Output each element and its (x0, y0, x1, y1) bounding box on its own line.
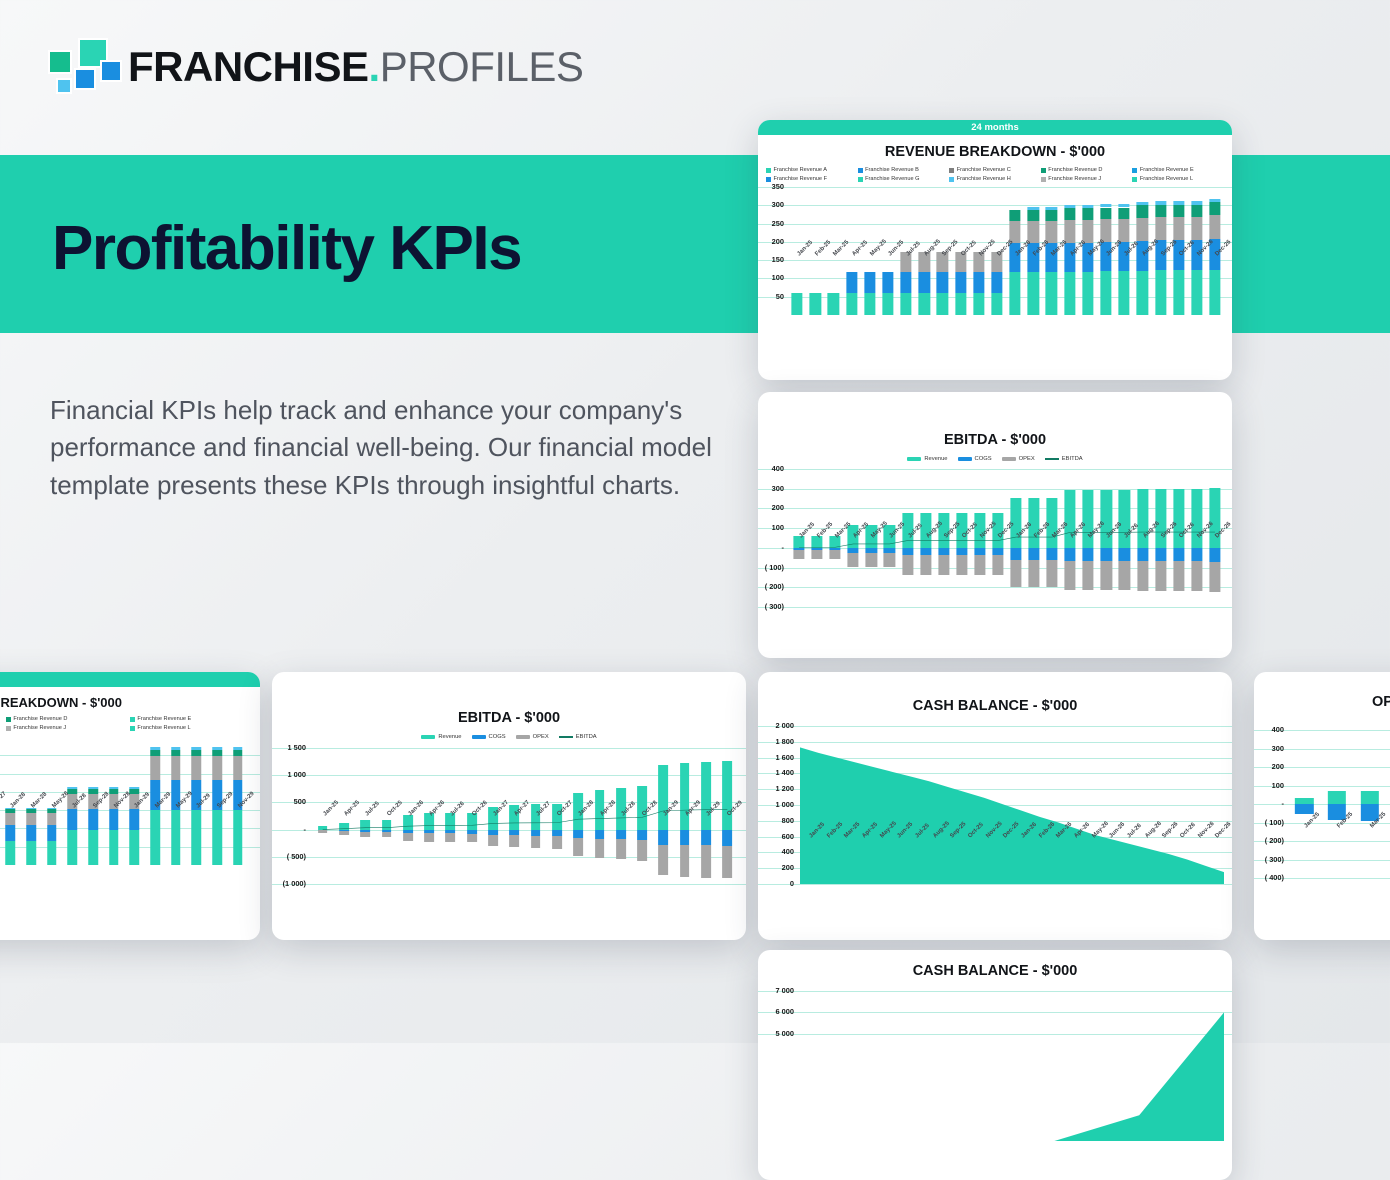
bar-segment (130, 787, 140, 789)
legend-item: Franchise Revenue D (6, 716, 130, 722)
legend-item: Franchise Revenue J (1041, 176, 1133, 182)
bar-segment (88, 830, 98, 865)
x-axis-tick: Mar-25 (1354, 823, 1387, 849)
y-axis-label: ( 200) (1256, 836, 1284, 845)
x-axis-tick: Jul-25 (897, 251, 915, 279)
x-axis-tick: Apr-25 (853, 833, 871, 859)
x-axis-labels: Jan-25Feb-25Mar-25Apr-25May-25Jun-25Jul-… (788, 251, 1224, 279)
legend-label: OPEX (533, 734, 549, 740)
x-axis-tick: Feb-26 (1030, 833, 1048, 859)
x-axis-tick: Nov-29 (227, 803, 248, 829)
bar-segment (1028, 210, 1039, 221)
legend-label: Franchise Revenue J (1048, 176, 1101, 182)
bar-segment (1173, 217, 1184, 240)
bar-column (1354, 730, 1387, 878)
y-axis-label: 150 (760, 255, 784, 264)
bar-segment (1119, 219, 1130, 242)
legend-label: Franchise Revenue D (13, 716, 67, 722)
legend-item: EBITDA (1045, 456, 1083, 462)
x-axis-tick: Nov-25 (971, 533, 989, 561)
bar-segment (846, 293, 857, 315)
bar-segment (1137, 561, 1148, 591)
y-axis-label: - (272, 825, 306, 834)
bar-segment (900, 293, 911, 315)
x-axis-tick: Jan-28 (0, 803, 21, 829)
bar-segment (1209, 215, 1220, 239)
x-axis-tick: Feb-25 (806, 251, 824, 279)
area-series (800, 726, 1224, 884)
legend-label: Franchise Revenue D (1048, 167, 1102, 173)
x-axis-tick: Jul-28 (62, 803, 83, 829)
legend-label: Franchise Revenue J (13, 725, 66, 731)
x-axis-tick: Jul-29 (186, 803, 207, 829)
chart-card-revenue-24-months[interactable]: 24 months REVENUE BREAKDOWN - $'000 Fran… (758, 120, 1232, 380)
legend-swatch (858, 177, 863, 182)
x-axis-tick: Jun-26 (1097, 533, 1115, 561)
y-axis-label: ( 200) (758, 582, 784, 591)
x-axis-tick: May-26 (1083, 833, 1101, 859)
chart-card-ebitda-5-years[interactable]: EBITDA - $'000 RevenueCOGSOPEXEBITDA 1 5… (272, 672, 746, 940)
bar-segment (1082, 205, 1093, 208)
x-axis-tick: Jul-25 (898, 533, 916, 561)
legend-item: COGS (472, 734, 506, 740)
x-axis-tick: Feb-26 (1025, 533, 1043, 561)
chart-title-ebitda-5y: EBITDA - $'000 (272, 710, 746, 726)
x-axis-tick: Jan-25 (1288, 823, 1321, 849)
bar-segment (1010, 210, 1021, 221)
y-axis-label: 1 000 (272, 770, 306, 779)
chart-plot-opex: 400300200100-( 100)( 200)( 300)( 400) (1254, 730, 1390, 878)
bar-segment (955, 293, 966, 315)
x-axis-tick: Apr-29 (674, 811, 695, 837)
x-axis-tick: Sep-26 (1151, 251, 1169, 279)
x-axis-labels: Jan-27Mar-27May-27Jul-27Sep-27Nov-27Jan-… (0, 803, 248, 829)
chart-plot-cash-balance-24: 2 0001 8001 6001 4001 2001 0008006004002… (758, 726, 1232, 884)
legend-swatch (949, 177, 954, 182)
x-axis-tick: Jun-26 (1097, 251, 1115, 279)
legend-item: Franchise Revenue C (949, 167, 1041, 173)
x-axis-tick: Jun-25 (888, 833, 906, 859)
bar-segment (192, 750, 202, 756)
legend-swatch (472, 735, 486, 739)
y-axis-label: 200 (758, 503, 784, 512)
bar-segment (1137, 205, 1148, 217)
legend-item: Franchise Revenue J (6, 725, 130, 731)
x-axis-tick: Mar-26 (1047, 833, 1065, 859)
y-axis-label: 100 (760, 273, 784, 282)
y-axis-label: 400 (758, 464, 784, 473)
x-axis-tick: May-29 (165, 803, 186, 829)
chart-card-opex-partial[interactable]: OPE 400300200100-( 100)( 200)( 300)( 400… (1254, 672, 1390, 940)
legend-swatch (559, 736, 573, 738)
y-axis-label: - (758, 543, 784, 552)
chart-card-cash-balance-5-years[interactable]: CASH BALANCE - $'000 7 0006 0005 000 (758, 950, 1232, 1180)
x-axis-tick: May-26 (1079, 533, 1097, 561)
y-axis-label: 5 000 (758, 1029, 794, 1038)
bar-segment (212, 756, 222, 780)
legend-item: Franchise Revenue E (1132, 167, 1224, 173)
x-axis-tick: May-25 (861, 251, 879, 279)
bar-segment (68, 830, 78, 865)
legend-item: EBITDA (559, 734, 597, 740)
bar-segment (1191, 205, 1202, 217)
bar-segment (130, 830, 140, 865)
x-axis-tick: Sep-26 (1153, 833, 1171, 859)
x-axis-tick: Aug-25 (915, 251, 933, 279)
y-axis-label: 1 500 (272, 743, 306, 752)
bar-segment (1155, 201, 1166, 204)
legend-label: Revenue (924, 456, 947, 462)
legend-label: Franchise Revenue A (774, 167, 827, 173)
x-axis-tick: Dec-25 (989, 533, 1007, 561)
legend-swatch (421, 735, 435, 739)
x-axis-tick: Oct-27 (546, 811, 567, 837)
x-axis-tick: Jan-29 (124, 803, 145, 829)
legend-item: Franchise Revenue B (858, 167, 950, 173)
brand-wordmark: FRANCHISE.PROFILES (128, 43, 583, 91)
bar-segment (722, 846, 732, 879)
bar-segment (109, 789, 119, 793)
y-axis-label: 300 (1256, 744, 1284, 753)
bar-segment (47, 841, 57, 865)
x-axis-labels: Jan-25Feb-25Mar-25Apr-25May-25Jun-25Jul-… (1288, 823, 1390, 849)
bar-segment (1083, 561, 1094, 591)
page-title: Profitability KPIs (52, 213, 521, 284)
bar-segment (573, 838, 583, 856)
y-axis-label: 350 (760, 182, 784, 191)
x-axis-tick: Sep-26 (1152, 533, 1170, 561)
x-axis-tick: Oct-25 (953, 533, 971, 561)
y-axis-label: ( 300) (1256, 855, 1284, 864)
area-series (800, 991, 1224, 1141)
legend-item: Franchise Revenue A (766, 167, 858, 173)
y-axis-label: 400 (1256, 725, 1284, 734)
bar-segment (864, 293, 875, 315)
x-axis-tick: Dec-25 (988, 251, 1006, 279)
x-axis-tick: Nov-26 (1189, 833, 1207, 859)
logo-square-5 (100, 60, 122, 82)
y-axis-label: ( 100) (1256, 818, 1284, 827)
bar-segment (1028, 221, 1039, 243)
x-axis-labels: Jan-25Apr-25Jul-25Oct-25Jan-26Apr-26Jul-… (312, 811, 738, 837)
legend-swatch (6, 726, 11, 731)
x-axis-tick: Dec-26 (1206, 533, 1224, 561)
bar-segment (1064, 208, 1075, 220)
x-axis-tick: Jun-26 (1100, 833, 1118, 859)
x-axis-labels: Jan-25Feb-25Mar-25Apr-25May-25Jun-25Jul-… (800, 833, 1224, 859)
brand-name-light: PROFILES (380, 43, 584, 90)
y-axis-label: 600 (758, 832, 794, 841)
x-axis-tick: Jan-25 (312, 811, 333, 837)
bar-segment (1155, 217, 1166, 240)
x-axis-tick: May-28 (41, 803, 62, 829)
x-axis-tick: Apr-28 (589, 811, 610, 837)
x-axis-tick: Nov-26 (1188, 533, 1206, 561)
bar-segment (1191, 561, 1202, 591)
bar-column (1386, 730, 1390, 878)
bar-segment (991, 293, 1002, 315)
bar-segment (1119, 208, 1130, 220)
y-axis-label: 200 (760, 237, 784, 246)
chart-title-revenue-breakdown-5y: REAKDOWN - $'000 (0, 695, 260, 710)
y-axis-label: ( 100) (758, 563, 784, 572)
grid-line (758, 187, 1232, 188)
bar-segment (1328, 791, 1346, 804)
y-axis-label: 50 (760, 292, 784, 301)
x-axis-tick: Nov-25 (970, 251, 988, 279)
x-axis-tick: Oct-26 (1170, 251, 1188, 279)
bar-segment (1047, 560, 1058, 588)
x-axis-tick: Dec-26 (1206, 833, 1224, 859)
x-axis-tick: Apr-25 (843, 251, 861, 279)
x-axis-tick: Jan-25 (788, 251, 806, 279)
y-axis-label: 1 600 (758, 753, 794, 762)
x-axis-labels: Jan-25Feb-25Mar-25Apr-25May-25Jun-25Jul-… (790, 533, 1224, 561)
bar-segment (26, 841, 36, 865)
y-axis-label: 300 (758, 484, 784, 493)
bar-segment (171, 750, 181, 756)
bar-segment (1064, 220, 1075, 243)
y-axis-label: 6 000 (758, 1007, 794, 1016)
bar-segment (973, 293, 984, 315)
x-axis-tick: Jul-29 (695, 811, 716, 837)
x-axis-tick: Jan-29 (653, 811, 674, 837)
x-axis-tick: Jan-27 (482, 811, 503, 837)
legend-item: COGS (958, 456, 992, 462)
bar-segment (1046, 210, 1057, 221)
legend-item: Franchise Revenue E (130, 716, 254, 722)
legend-label: Franchise Revenue L (1140, 176, 1193, 182)
x-axis-tick: Feb-25 (818, 833, 836, 859)
x-axis-tick: Mar-26 (1042, 251, 1060, 279)
legend-item: OPEX (516, 734, 549, 740)
bar-series (1288, 730, 1390, 878)
x-axis-tick: Sep-25 (941, 833, 959, 859)
bar-segment (88, 789, 98, 793)
y-axis-label: 7 000 (758, 986, 794, 995)
legend-label: Franchise Revenue H (957, 176, 1011, 182)
bar-segment (1119, 204, 1130, 207)
chart-title-revenue-breakdown: REVENUE BREAKDOWN - $'000 (758, 144, 1232, 160)
x-axis-tick: Mar-25 (826, 533, 844, 561)
x-axis-tick: Oct-26 (1171, 833, 1189, 859)
bar-segment (937, 293, 948, 315)
bar-segment (616, 839, 626, 859)
bar-segment (171, 747, 181, 750)
x-axis-tick: Jan-26 (1007, 533, 1025, 561)
bar-segment (509, 835, 519, 847)
bar-segment (1295, 804, 1313, 814)
bar-segment (171, 756, 181, 780)
logo-mark-icon (48, 38, 110, 96)
x-axis-tick: Sep-25 (935, 533, 953, 561)
x-axis-tick: Aug-26 (1133, 251, 1151, 279)
bar-segment (810, 293, 821, 315)
chart-plot-cash-balance-5y: 7 0006 0005 000 (758, 991, 1232, 1141)
x-axis-tick: Feb-25 (808, 533, 826, 561)
bar-segment (1046, 207, 1057, 210)
chart-title-cash-balance-5y: CASH BALANCE - $'000 (758, 963, 1232, 979)
x-axis-tick: Mar-28 (21, 803, 42, 829)
x-axis-tick: Oct-25 (376, 811, 397, 837)
x-axis-tick: Jul-28 (610, 811, 631, 837)
x-axis-tick: Jun-25 (879, 251, 897, 279)
legend-label: COGS (489, 734, 506, 740)
bar-column (1288, 730, 1321, 878)
bar-segment (701, 845, 711, 877)
bar-segment (1191, 201, 1202, 205)
legend-label: EBITDA (1062, 456, 1083, 462)
grid-line (758, 607, 1232, 608)
legend-label: Franchise Revenue C (957, 167, 1011, 173)
y-axis-label: (1 000) (272, 879, 306, 888)
bar-segment (1028, 207, 1039, 210)
x-axis-tick: Apr-25 (333, 811, 354, 837)
bar-segment (88, 787, 98, 789)
x-axis-tick: Mar-25 (824, 251, 842, 279)
chart-card-cash-balance-24-months[interactable]: CASH BALANCE - $'000 2 0001 8001 6001 40… (758, 672, 1232, 940)
bar-segment (659, 845, 669, 875)
bar-segment (680, 845, 690, 877)
x-axis-tick: May-25 (871, 833, 889, 859)
bar-segment (1010, 560, 1021, 588)
legend-swatch (766, 168, 771, 173)
logo-square-3 (56, 78, 72, 94)
chart-legend-revenue-24: Franchise Revenue AFranchise Revenue BFr… (758, 167, 1232, 182)
legend-swatch (6, 717, 11, 722)
x-axis-tick: Apr-26 (1065, 833, 1083, 859)
x-axis-tick: Dec-25 (994, 833, 1012, 859)
y-axis-label: ( 400) (1256, 873, 1284, 882)
legend-swatch (766, 177, 771, 182)
legend-swatch (1002, 457, 1016, 461)
bar-segment (1137, 202, 1148, 205)
legend-item: Revenue (907, 456, 947, 462)
bar-segment (212, 747, 222, 750)
legend-item: OPEX (1002, 456, 1035, 462)
legend-swatch (130, 717, 135, 722)
legend-item: Franchise Revenue H (949, 176, 1041, 182)
x-axis-tick: Feb-26 (1024, 251, 1042, 279)
y-axis-label: 2 000 (758, 721, 794, 730)
x-axis-tick: Nov-25 (977, 833, 995, 859)
x-axis-tick: Apr-26 (1061, 251, 1079, 279)
x-axis-tick: Dec-26 (1206, 251, 1224, 279)
x-axis-tick: Apr-26 (1061, 533, 1079, 561)
bar-segment (1119, 561, 1130, 591)
y-axis-label: ( 300) (758, 602, 784, 611)
x-axis-tick: Jan-25 (800, 833, 818, 859)
x-axis-tick: Jul-27 (525, 811, 546, 837)
x-axis-tick: Oct-25 (952, 251, 970, 279)
legend-swatch (516, 735, 530, 739)
x-axis-tick: Apr-25 (844, 533, 862, 561)
x-axis-tick: Mar-25 (835, 833, 853, 859)
y-axis-label: 1 200 (758, 784, 794, 793)
x-axis-tick: Oct-26 (1170, 533, 1188, 561)
card-band-5-years: 5 years (0, 672, 260, 687)
x-axis-tick: Jul-26 (1115, 533, 1133, 561)
legend-label: Franchise Revenue L (137, 725, 190, 731)
legend-label: Franchise Revenue G (865, 176, 919, 182)
legend-label: COGS (975, 456, 992, 462)
x-axis-tick: Nov-28 (103, 803, 124, 829)
legend-swatch (907, 457, 921, 461)
x-axis-tick: Apr-27 (504, 811, 525, 837)
x-axis-tick: Sep-28 (83, 803, 104, 829)
x-axis-tick: May-25 (862, 533, 880, 561)
y-axis-label: 200 (1256, 762, 1284, 771)
y-axis-label: 250 (760, 219, 784, 228)
legend-label: EBITDA (576, 734, 597, 740)
bar-segment (828, 293, 839, 315)
bar-segment (1173, 201, 1184, 205)
bar-segment (1191, 217, 1202, 240)
x-axis-tick: Jan-28 (568, 811, 589, 837)
y-axis-label: 800 (758, 816, 794, 825)
y-axis-label: - (1256, 799, 1284, 808)
bar-segment (1100, 208, 1111, 220)
x-axis-tick: Aug-26 (1133, 533, 1151, 561)
x-axis-tick: Jul-26 (1115, 251, 1133, 279)
bar-segment (68, 789, 78, 793)
bar-segment (791, 293, 802, 315)
bar-segment (233, 756, 243, 780)
y-axis-label: 0 (758, 879, 794, 888)
legend-item: Franchise Revenue L (1132, 176, 1224, 182)
legend-label: OPEX (1019, 456, 1035, 462)
x-axis-tick: Jan-25 (790, 533, 808, 561)
legend-item: Revenue (421, 734, 461, 740)
bar-segment (1065, 561, 1076, 591)
bar-segment (1209, 562, 1220, 593)
bar-segment (192, 747, 202, 750)
legend-item: Franchise Revenue D (1041, 167, 1133, 173)
bar-segment (1155, 205, 1166, 217)
bar-segment (1100, 204, 1111, 207)
bar-segment (882, 293, 893, 315)
bar-segment (192, 756, 202, 780)
bar-segment (637, 840, 647, 861)
chart-title-opex: OPE (1254, 694, 1390, 710)
grid-line (758, 884, 1232, 885)
brand-logo: FRANCHISE.PROFILES (48, 38, 583, 96)
bar-segment (1137, 218, 1148, 241)
legend-label: Franchise Revenue E (1140, 167, 1194, 173)
chart-card-revenue-5-years[interactable]: 5 years REAKDOWN - $'000 Franchise Reven… (0, 672, 260, 940)
card-band-24-months: 24 months (758, 120, 1232, 135)
y-axis-label: 500 (272, 797, 306, 806)
y-axis-label: ( 500) (272, 852, 306, 861)
brand-name-dot: . (369, 43, 380, 90)
x-axis-tick: Sep-25 (933, 251, 951, 279)
bar-segment (1173, 561, 1184, 591)
bar-segment (1082, 220, 1093, 243)
bar-segment (68, 787, 78, 789)
legend-label: Revenue (438, 734, 461, 740)
x-axis-tick: Jan-26 (1006, 251, 1024, 279)
chart-legend-ebitda-5y: RevenueCOGSOPEXEBITDA (272, 734, 746, 740)
chart-title-ebitda-24: EBITDA - $'000 (758, 432, 1232, 448)
x-axis-tick: Aug-25 (917, 533, 935, 561)
bar-segment (150, 750, 160, 756)
bar-segment (109, 830, 119, 865)
bar-segment (233, 747, 243, 750)
chart-card-ebitda-24-months[interactable]: EBITDA - $'000 RevenueCOGSOPEXEBITDA 400… (758, 392, 1232, 658)
x-axis-tick: Jul-26 (440, 811, 461, 837)
bar-segment (6, 841, 16, 865)
x-axis-tick: Apr-26 (418, 811, 439, 837)
